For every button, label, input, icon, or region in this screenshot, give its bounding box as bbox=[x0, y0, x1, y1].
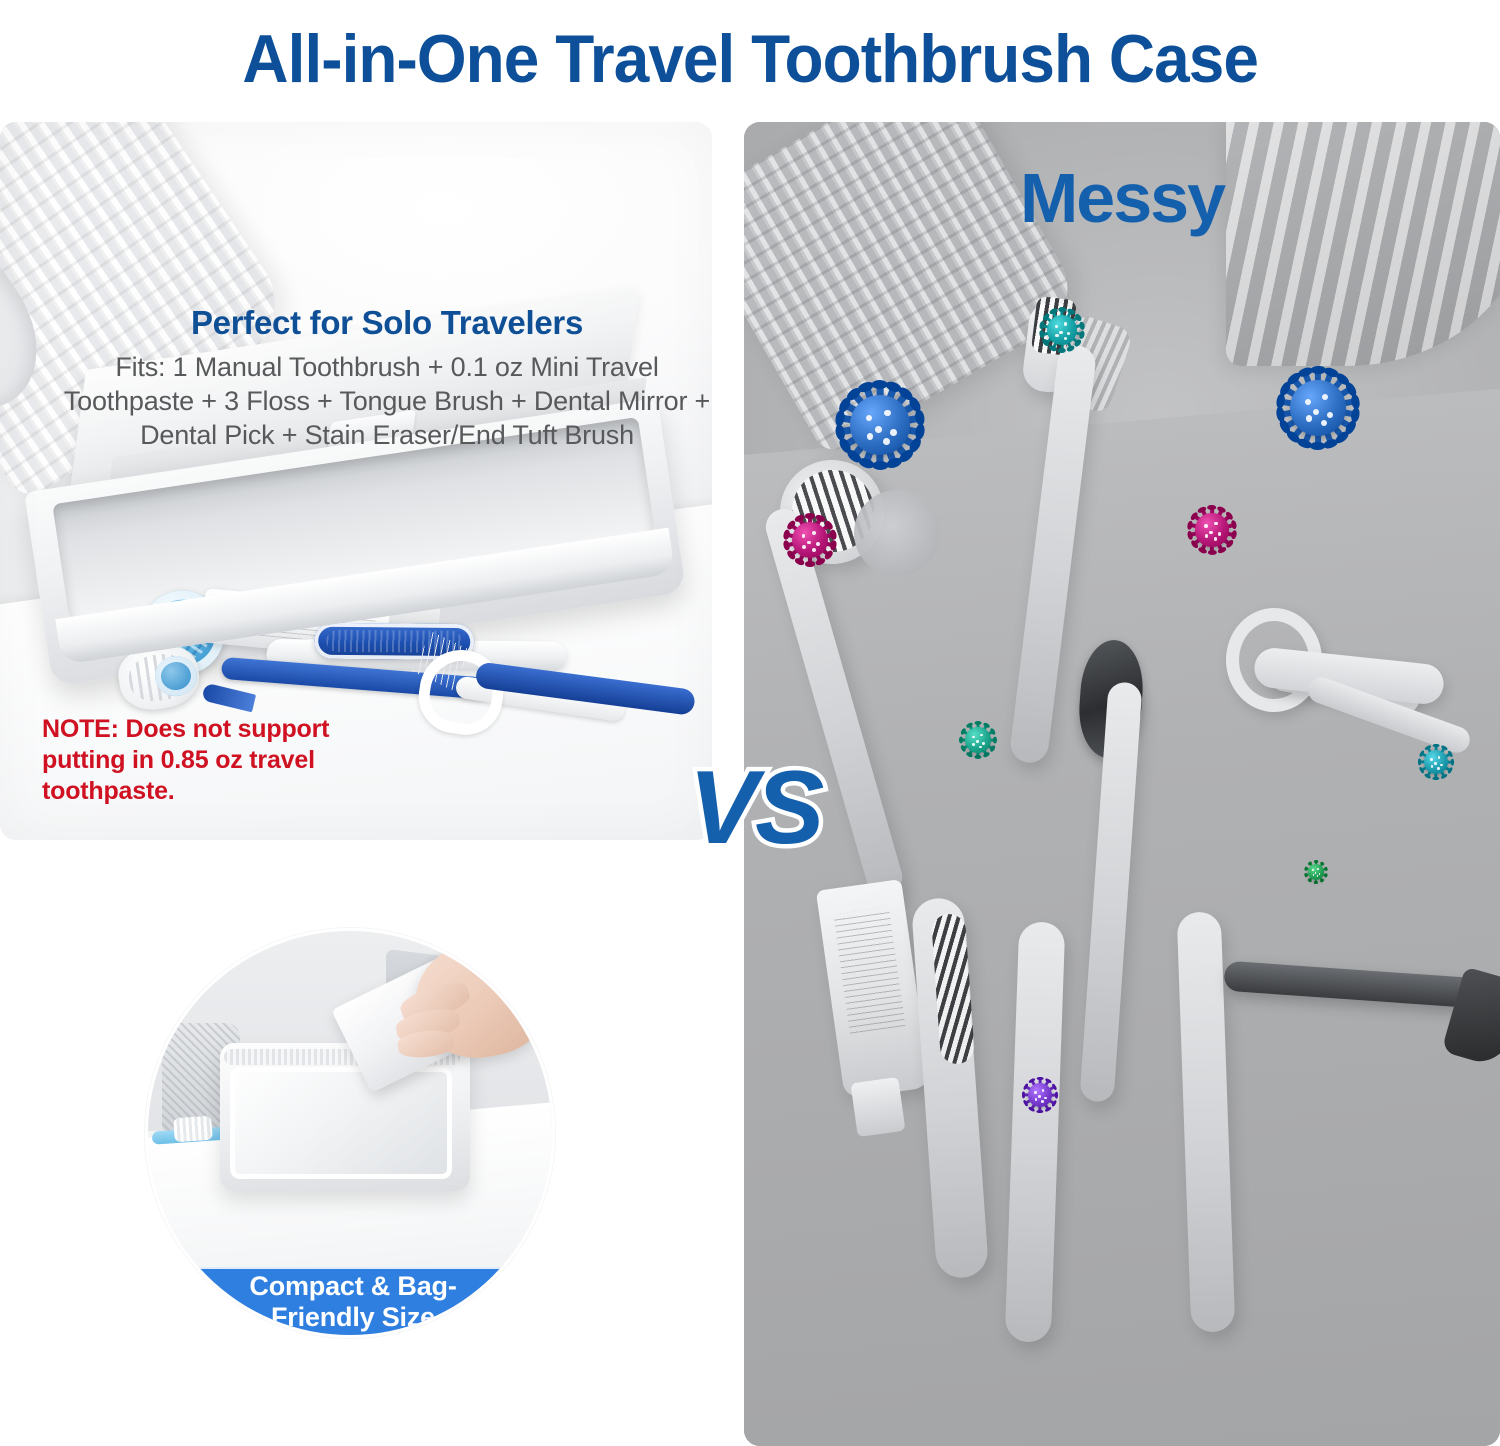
messy-label: Messy bbox=[744, 158, 1500, 238]
inset-banner-line2: Friendly Size bbox=[271, 1302, 435, 1333]
inset-banner: Compact & Bag- Friendly Size bbox=[148, 1267, 555, 1335]
germ-surface-dots bbox=[1309, 865, 1322, 878]
left-text-block: Perfect for Solo Travelers Fits: 1 Manua… bbox=[62, 304, 712, 452]
left-body-text: Fits: 1 Manual Toothbrush + 0.1 oz Mini … bbox=[62, 350, 712, 452]
germ-magenta-mid bbox=[1189, 507, 1235, 553]
germ-blue-large bbox=[838, 383, 922, 467]
germ-surface-dots bbox=[967, 729, 989, 751]
compact-size-inset: Compact & Bag- Friendly Size bbox=[145, 928, 555, 1338]
germ-magenta-left bbox=[785, 515, 835, 565]
germ-purple bbox=[1023, 1078, 1057, 1112]
germ-teal-top bbox=[1041, 309, 1083, 351]
inset-toothbrush-head bbox=[173, 1116, 213, 1143]
page-title-bar: All-in-One Travel Toothbrush Case bbox=[0, 0, 1500, 118]
germ-surface-dots bbox=[1198, 516, 1226, 544]
left-headline: Perfect for Solo Travelers bbox=[62, 304, 712, 342]
germ-teal-edge bbox=[1419, 745, 1453, 779]
clear-toiletry-pouch bbox=[220, 1043, 470, 1191]
pouch-clear-window bbox=[230, 1067, 452, 1179]
germ-surface-dots bbox=[1049, 317, 1074, 342]
infographic-root: All-in-One Travel Toothbrush Case bbox=[0, 0, 1500, 1446]
germ-green-small bbox=[1305, 861, 1327, 883]
inset-banner-line1: Compact & Bag- bbox=[249, 1271, 456, 1302]
messy-toothpaste-cap bbox=[850, 1077, 905, 1137]
germ-teal-small bbox=[960, 722, 996, 758]
vs-badge: VS bbox=[660, 752, 850, 864]
page-title: All-in-One Travel Toothbrush Case bbox=[242, 20, 1258, 98]
germ-surface-dots bbox=[795, 525, 825, 555]
right-panel: Messy bbox=[744, 122, 1500, 1446]
messy-dental-scaler bbox=[1224, 942, 1500, 1092]
germ-blue-right bbox=[1279, 369, 1357, 447]
warning-note: NOTE: Does not support putting in 0.85 o… bbox=[42, 714, 382, 807]
germ-surface-dots bbox=[855, 400, 905, 450]
